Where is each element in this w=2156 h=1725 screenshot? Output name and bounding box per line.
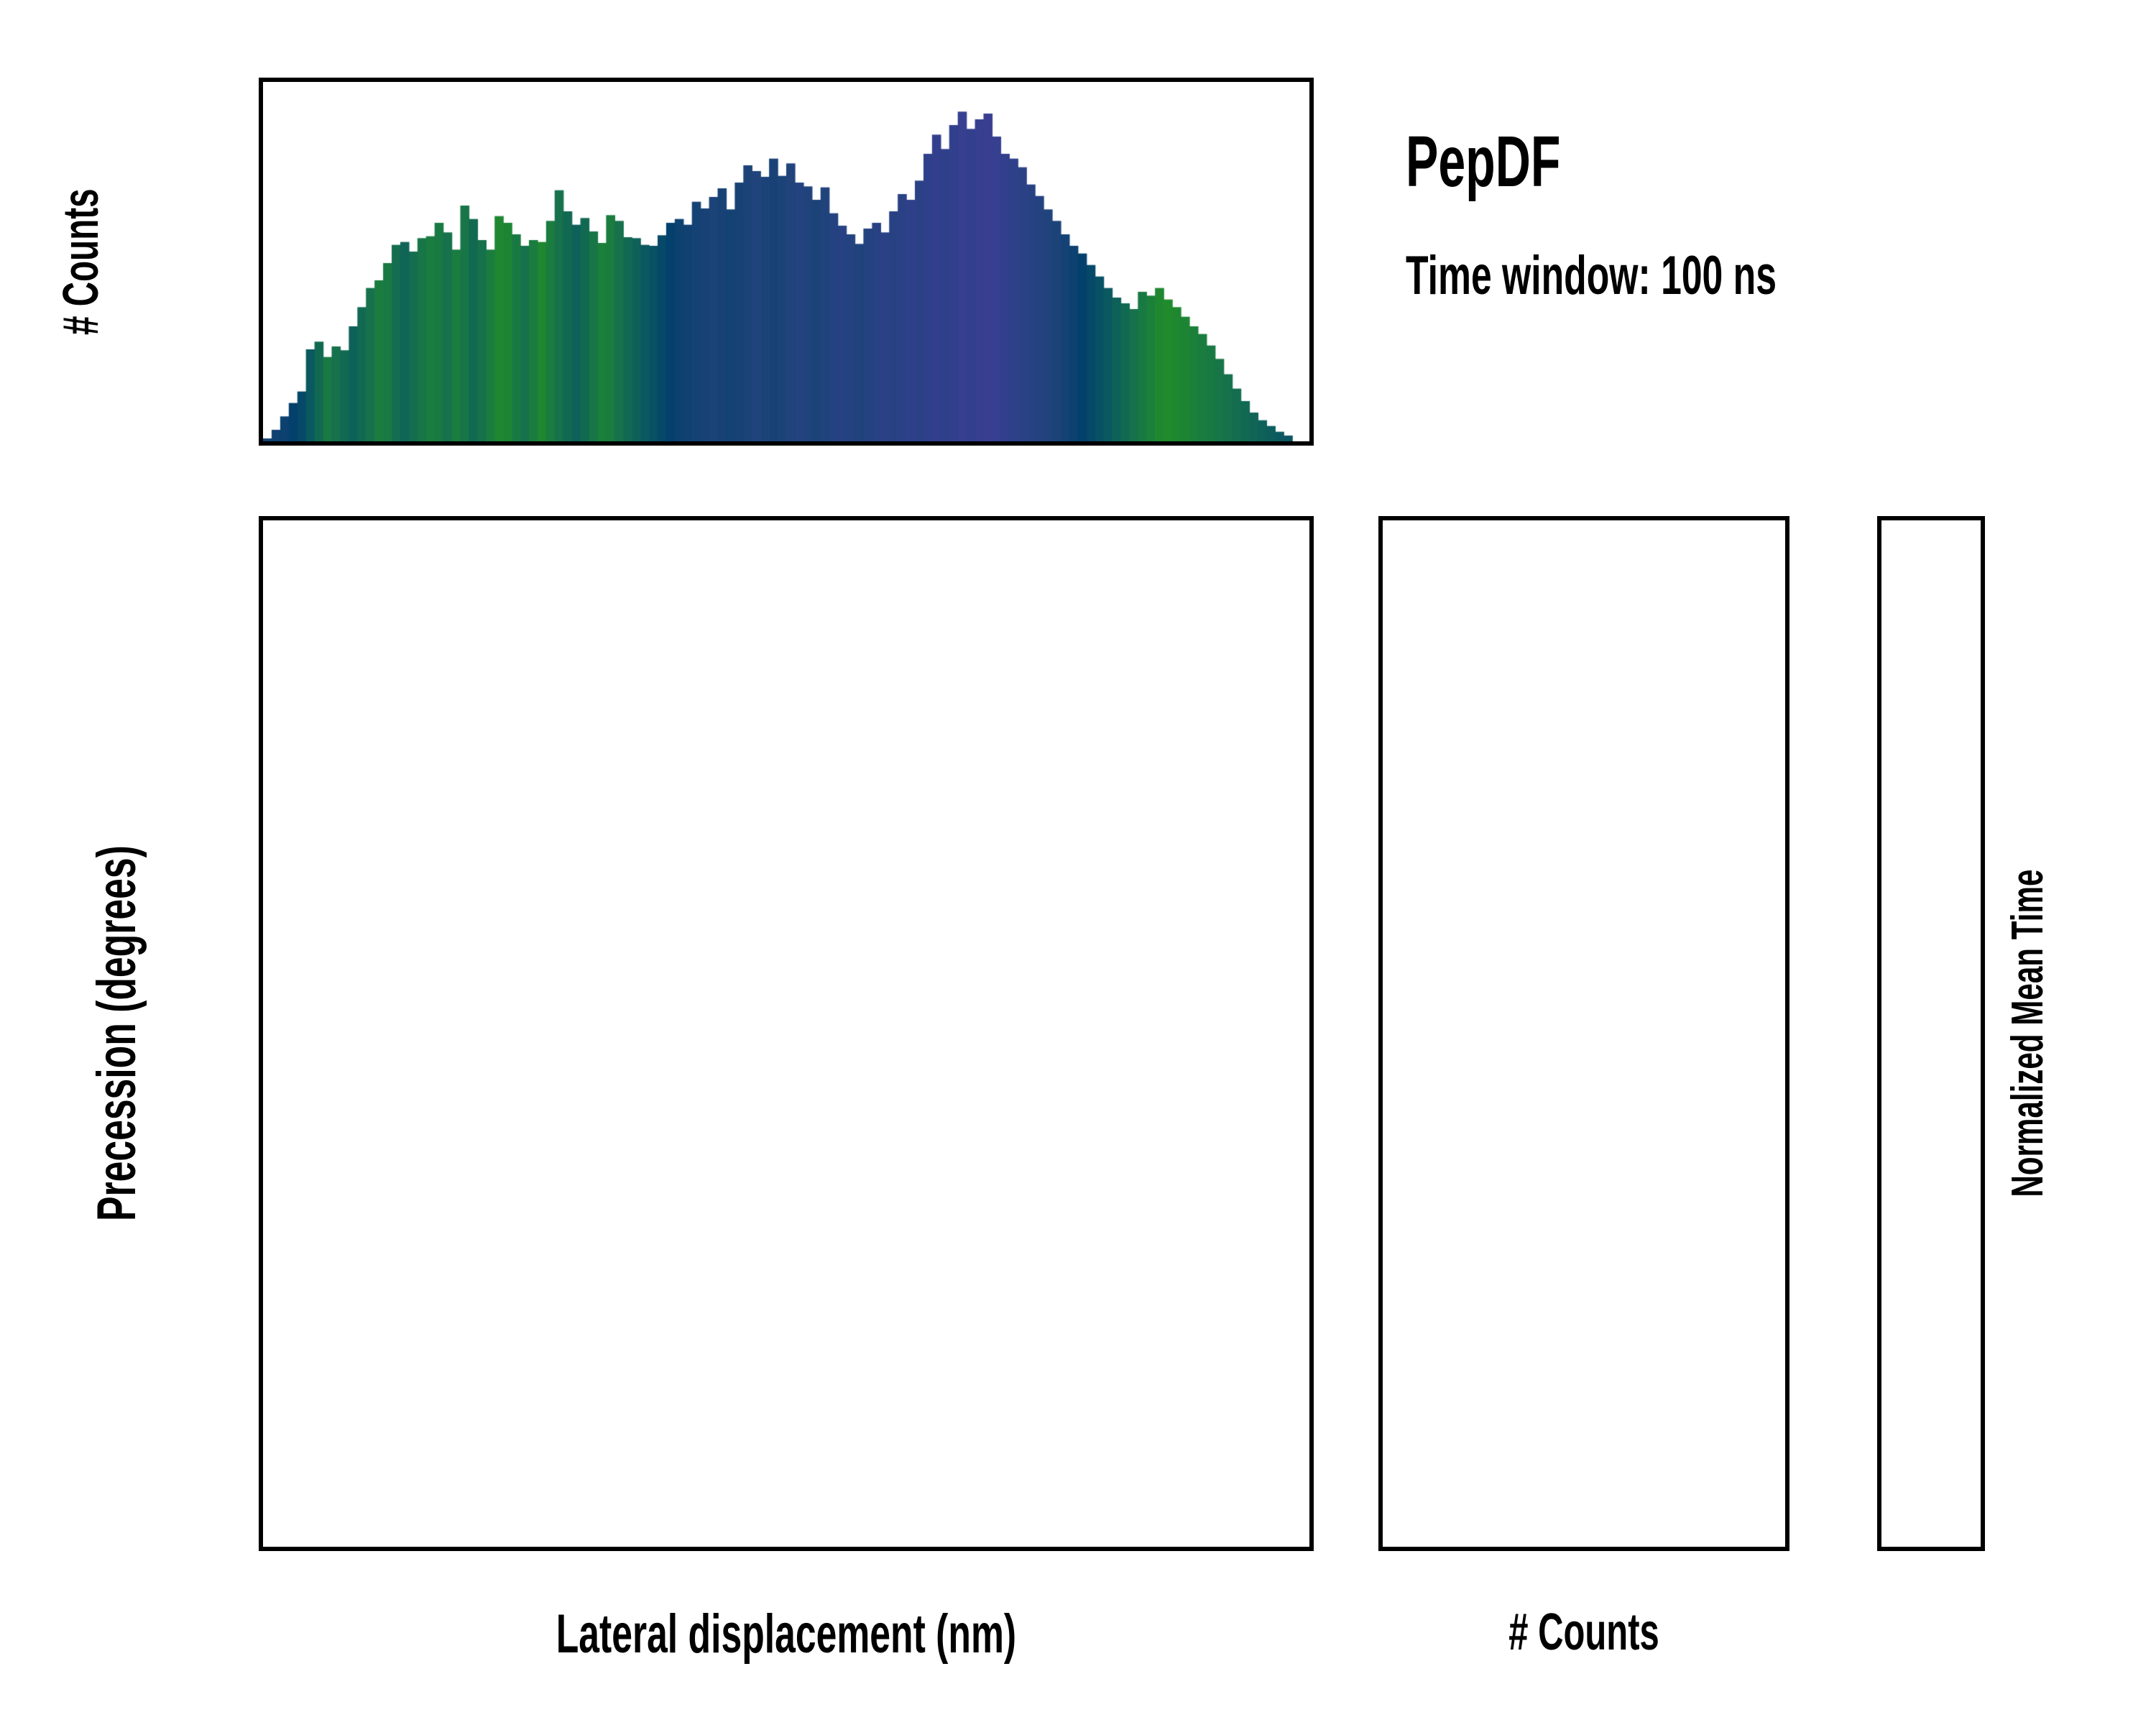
main-heatmap-panel: [259, 516, 1314, 1551]
right-histogram-xlabel: # Counts: [1378, 1603, 1789, 1662]
top-histogram-canvas: [263, 82, 1309, 441]
plot-subtitle: Time window: 100 ns: [1406, 244, 1951, 307]
top-histogram-ylabel: # Counts: [45, 78, 116, 446]
main-panel-ylabel: Precession (degrees): [78, 516, 157, 1551]
main-panel-xlabel: Lateral displacement (nm): [259, 1603, 1314, 1665]
right-histogram-canvas: [1383, 520, 1785, 1547]
colorbar-label: Normalized Mean Time: [1992, 516, 2064, 1551]
plot-title: PepDF: [1406, 121, 1634, 203]
figure-canvas: # Counts Lateral displacement (nm) Prece…: [0, 0, 2156, 1725]
colorbar: [1877, 516, 1985, 1551]
right-histogram-panel: [1378, 516, 1789, 1551]
colorbar-gradient: [1881, 520, 1981, 1547]
main-heatmap-canvas: [263, 520, 1309, 1547]
top-histogram-panel: [259, 78, 1314, 446]
